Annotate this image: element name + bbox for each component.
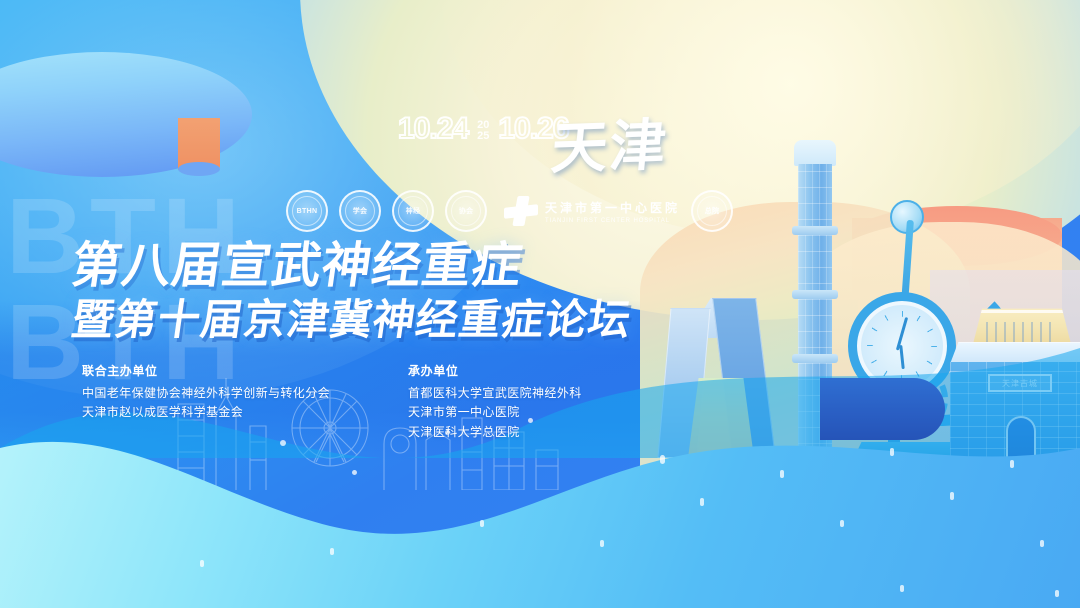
title-line-2: 暨第十届京津冀神经重症论坛 [69, 295, 635, 345]
seal-label: 总院 [705, 208, 720, 215]
hospital-name-en: TIANJIN FIRST CENTER HOSPITAL [545, 218, 680, 224]
undertaker-item: 首都医科大学宣武医院神经外科 [408, 384, 582, 403]
co-host-heading: 联合主办单位 [82, 362, 330, 379]
undertaker-item: 天津医科大学总医院 [408, 423, 582, 442]
seal-label: 神经 [406, 208, 421, 215]
undertaker-block: 承办单位 首都医科大学宣武医院神经外科 天津市第一中心医院 天津医科大学总医院 [408, 362, 582, 442]
seal-label: BTHN [297, 208, 318, 215]
organizer-blocks: 联合主办单位 中国老年保健协会神经外科学创新与转化分会 天津市赵以成医学科学基金… [82, 362, 582, 442]
logo-bthn-seal: BTHN [286, 190, 328, 232]
event-date-range: 10.24 20 25 10.26 [398, 112, 568, 146]
seal-label: 学会 [353, 208, 368, 215]
organizer-logo-row: BTHN 学会 神经 协会 天津市第一中心医院 TIANJIN FIRST CE… [286, 190, 733, 232]
undertaker-item: 天津市第一中心医院 [408, 403, 582, 422]
co-host-block: 联合主办单位 中国老年保健协会神经外科学创新与转化分会 天津市赵以成医学科学基金… [82, 362, 330, 442]
co-host-item: 天津市赵以成医学科学基金会 [82, 403, 330, 422]
event-year: 20 25 [477, 120, 489, 142]
title-line-1: 第八届宣武神经重症 [68, 240, 634, 293]
undertaker-heading: 承办单位 [408, 362, 582, 379]
year-bottom: 25 [477, 131, 489, 142]
medical-cross-icon [504, 196, 538, 226]
logo-brain-seal: 神经 [392, 190, 434, 232]
logo-society-seal: 学会 [339, 190, 381, 232]
hospital-wordmark: 天津市第一中心医院 TIANJIN FIRST CENTER HOSPITAL [545, 199, 680, 224]
conference-poster: 天津古城 [0, 0, 1080, 608]
co-host-item: 中国老年保健协会神经外科学创新与转化分会 [82, 384, 330, 403]
hospital-name-cn: 天津市第一中心医院 [545, 199, 680, 216]
city-name-calligraphy: 天津 [548, 100, 672, 185]
date-start: 10.24 [398, 112, 468, 146]
logo-tianjin-first-center-hospital: 天津市第一中心医院 TIANJIN FIRST CENTER HOSPITAL [504, 196, 680, 226]
logo-association-seal: 协会 [445, 190, 487, 232]
poster-title: 第八届宣武神经重症 暨第十届京津冀神经重症论坛 [72, 240, 631, 344]
seal-label: 协会 [459, 208, 474, 215]
poster-content: 10.24 20 25 10.26 天津 BTHN 学会 神经 协会 [0, 0, 1080, 608]
logo-general-hospital-seal: 总院 [691, 190, 733, 232]
